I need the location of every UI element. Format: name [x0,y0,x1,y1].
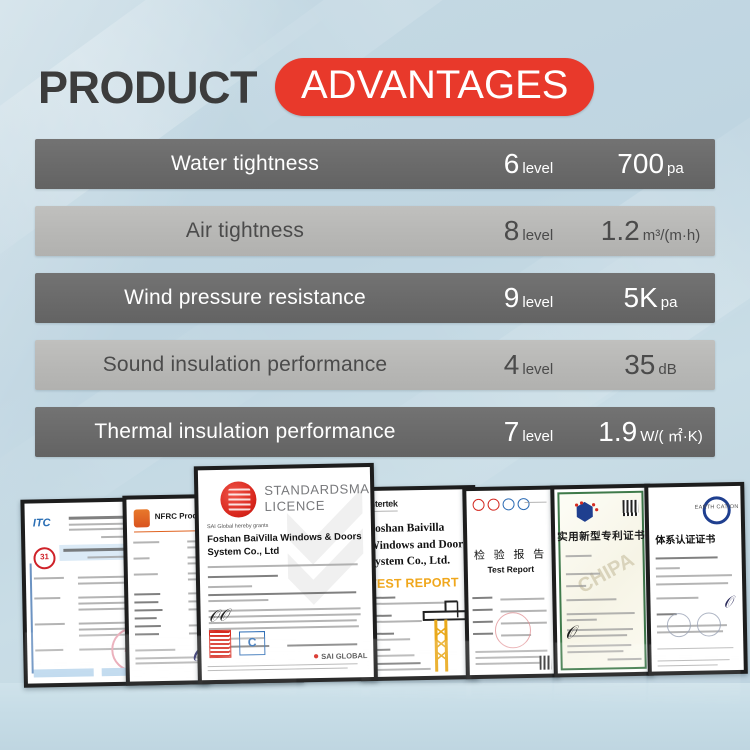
doc-line [656,574,732,577]
doc-line [34,597,60,599]
spec-level-unit: level [522,294,553,311]
doc-line [525,502,547,503]
certificate-title: TEST REPORT [369,575,459,591]
itc-stamp-icon: 31 [33,547,55,569]
itc-logo-icon: ITC [33,517,59,531]
qr-code-icon [623,500,639,516]
table-row: Air tightness 8level 1.2m³/(m·h) [35,206,715,256]
doc-line [134,601,158,603]
signature: 𝒪𝒪 [208,607,230,627]
doc-line [34,577,64,580]
spec-level: 7level [461,416,596,448]
certificate-company: Foshan BaiVilla Windows & Doors System C… [207,531,365,560]
doc-line [500,598,544,601]
spec-value-number: 35 [624,349,655,380]
spec-level: 9level [461,282,596,314]
doc-line [209,607,361,612]
certificate-title: 体系认证证书 [655,530,715,546]
certificate-inspection-report: 检 验 报 告 Test Report [462,485,560,679]
ilac-logo-icon [517,498,529,510]
spec-level-unit: level [522,428,553,445]
nfrc-logo-icon [134,509,150,527]
page-title-main: PRODUCT [38,65,257,110]
doc-line [134,573,158,575]
spec-level-value: 7 [504,416,520,447]
spec-value: 1.9W/( ㎡·K) [596,416,715,448]
official-seal-icon [495,612,532,649]
certificate-row: ITC 31 [4,464,748,688]
spec-name: Wind pressure resistance [35,286,461,310]
doc-line [287,643,357,646]
spec-value: 700pa [596,148,715,180]
certificates-strip: ITC 31 [0,478,750,750]
spec-value-unit: m³/(m·h) [643,227,700,244]
doc-line [135,649,175,652]
specs-table: Water tightness 6level 700pa Air tightne… [35,139,715,474]
doc-line [35,623,65,626]
doc-line [656,556,718,559]
spec-value-number: 5K [624,282,658,313]
doc-line [473,621,493,623]
signature: 𝒪 [722,594,734,613]
doc-line [473,609,493,611]
certificate-intro: SAI Global hereby grants [207,523,269,530]
certificate-patent: 实用新型专利证书 CHIPA 𝒪 [550,484,654,678]
spec-level-unit: level [522,160,553,177]
doc-line [134,593,160,595]
cma-logo-icon [487,499,499,511]
table-row: Water tightness 6level 700pa [35,139,715,189]
spec-value-number: 1.9 [598,416,637,447]
certificate-standardsmark: STANDARDSMARK LICENCE SAI Global hereby … [194,463,378,684]
doc-line [208,667,348,671]
certification-brand: EARTH CATION [695,504,739,511]
certificate-title: STANDARDSMARK LICENCE [264,481,374,516]
page-title-highlight: ADVANTAGES [275,58,594,116]
page-title: PRODUCT ADVANTAGES [38,58,594,116]
doc-line [658,659,730,661]
spec-level-value: 9 [504,282,520,313]
certificate-title: 检 验 报 告 [467,546,553,564]
spec-value-unit: dB [658,361,676,378]
certificate-company: Foshan Baivilla Windows and Doors System… [368,519,469,571]
doc-line [209,619,357,624]
certificate-page: STANDARDSMARK LICENCE SAI Global hereby … [198,467,374,680]
spec-name: Sound insulation performance [35,353,461,377]
certificate-title: 实用新型专利证书 [557,528,645,545]
doc-line [35,649,63,652]
spec-level-value: 4 [504,349,520,380]
qr-code-icon [539,656,551,670]
doc-line [135,625,161,627]
cnas-logo-icon [472,499,484,511]
doc-line [370,620,422,623]
spec-value: 35dB [596,349,715,381]
doc-line [209,613,361,618]
doc-line [475,656,549,659]
doc-line [472,597,492,599]
signature: 𝒪 [564,623,577,644]
certification-seal-icon [697,612,721,636]
doc-line [657,647,733,649]
sai-global-logo: ● SAI GLOBAL [313,650,368,662]
spec-level: 4level [461,349,596,381]
doc-line [566,585,586,587]
doc-line [371,662,421,664]
doc-line [208,585,252,588]
standards-badge-icon [209,630,232,658]
certificate-shelf [0,683,750,750]
sai-global-label: SAI GLOBAL [321,651,367,661]
doc-line [208,663,358,667]
spec-value-unit: pa [661,294,678,311]
doc-margin-rule [30,564,34,674]
spec-level-unit: level [522,227,553,244]
spec-level-unit: level [522,361,553,378]
patent-emblem-icon [573,501,599,523]
doc-fineprint [208,663,368,676]
table-row: Wind pressure resistance 9level 5Kpa [35,273,715,323]
doc-line [476,662,544,665]
certification-badge-icon: C [239,631,265,655]
doc-footer-band [34,668,94,677]
doc-line [208,575,278,578]
certificate-system: EARTH CATION 体系认证证书 𝒪 [644,482,748,676]
certification-seal-icon [667,613,691,637]
table-row: Sound insulation performance 4level 35dB [35,340,715,390]
certificate-page: 实用新型专利证书 CHIPA 𝒪 [554,488,650,674]
spec-value: 1.2m³/(m·h) [596,215,715,247]
doc-line [135,617,157,619]
standardsmark-logo-icon [220,481,257,518]
spec-level-value: 8 [504,215,520,246]
doc-line [135,609,163,612]
doc-line [133,541,159,543]
doc-line [473,633,493,635]
spec-value-number: 1.2 [601,215,640,246]
spec-name: Air tightness [35,219,461,243]
accreditation-logos [472,498,529,511]
doc-line [475,650,547,653]
spec-level-value: 6 [504,148,520,179]
doc-line [208,599,268,602]
doc-line [656,567,680,569]
doc-line [656,597,698,600]
spec-value-number: 700 [617,148,664,179]
certificate-page: intertek Foshan Baivilla Windows and Doo… [361,489,475,677]
certificate-page: EARTH CATION 体系认证证书 𝒪 [648,486,744,672]
doc-line [134,557,150,559]
spec-value-unit: W/( ㎡·K) [640,428,702,445]
spec-level: 6level [461,148,596,180]
spec-value: 5Kpa [596,282,715,314]
doc-line [658,664,718,666]
doc-line [209,625,359,630]
doc-line [656,582,728,585]
product-advantages-page: PRODUCT ADVANTAGES Water tightness 6leve… [0,0,750,750]
doc-line [135,633,159,635]
certificate-page: 检 验 报 告 Test Report [466,490,556,676]
cal-logo-icon [502,498,514,510]
spec-name: Thermal insulation performance [35,420,461,444]
certificate-subtitle: Test Report [468,564,554,576]
table-row: Thermal insulation performance 7level 1.… [35,407,715,457]
spec-name: Water tightness [35,152,461,176]
spec-value-unit: pa [667,160,684,177]
spec-level: 8level [461,215,596,247]
